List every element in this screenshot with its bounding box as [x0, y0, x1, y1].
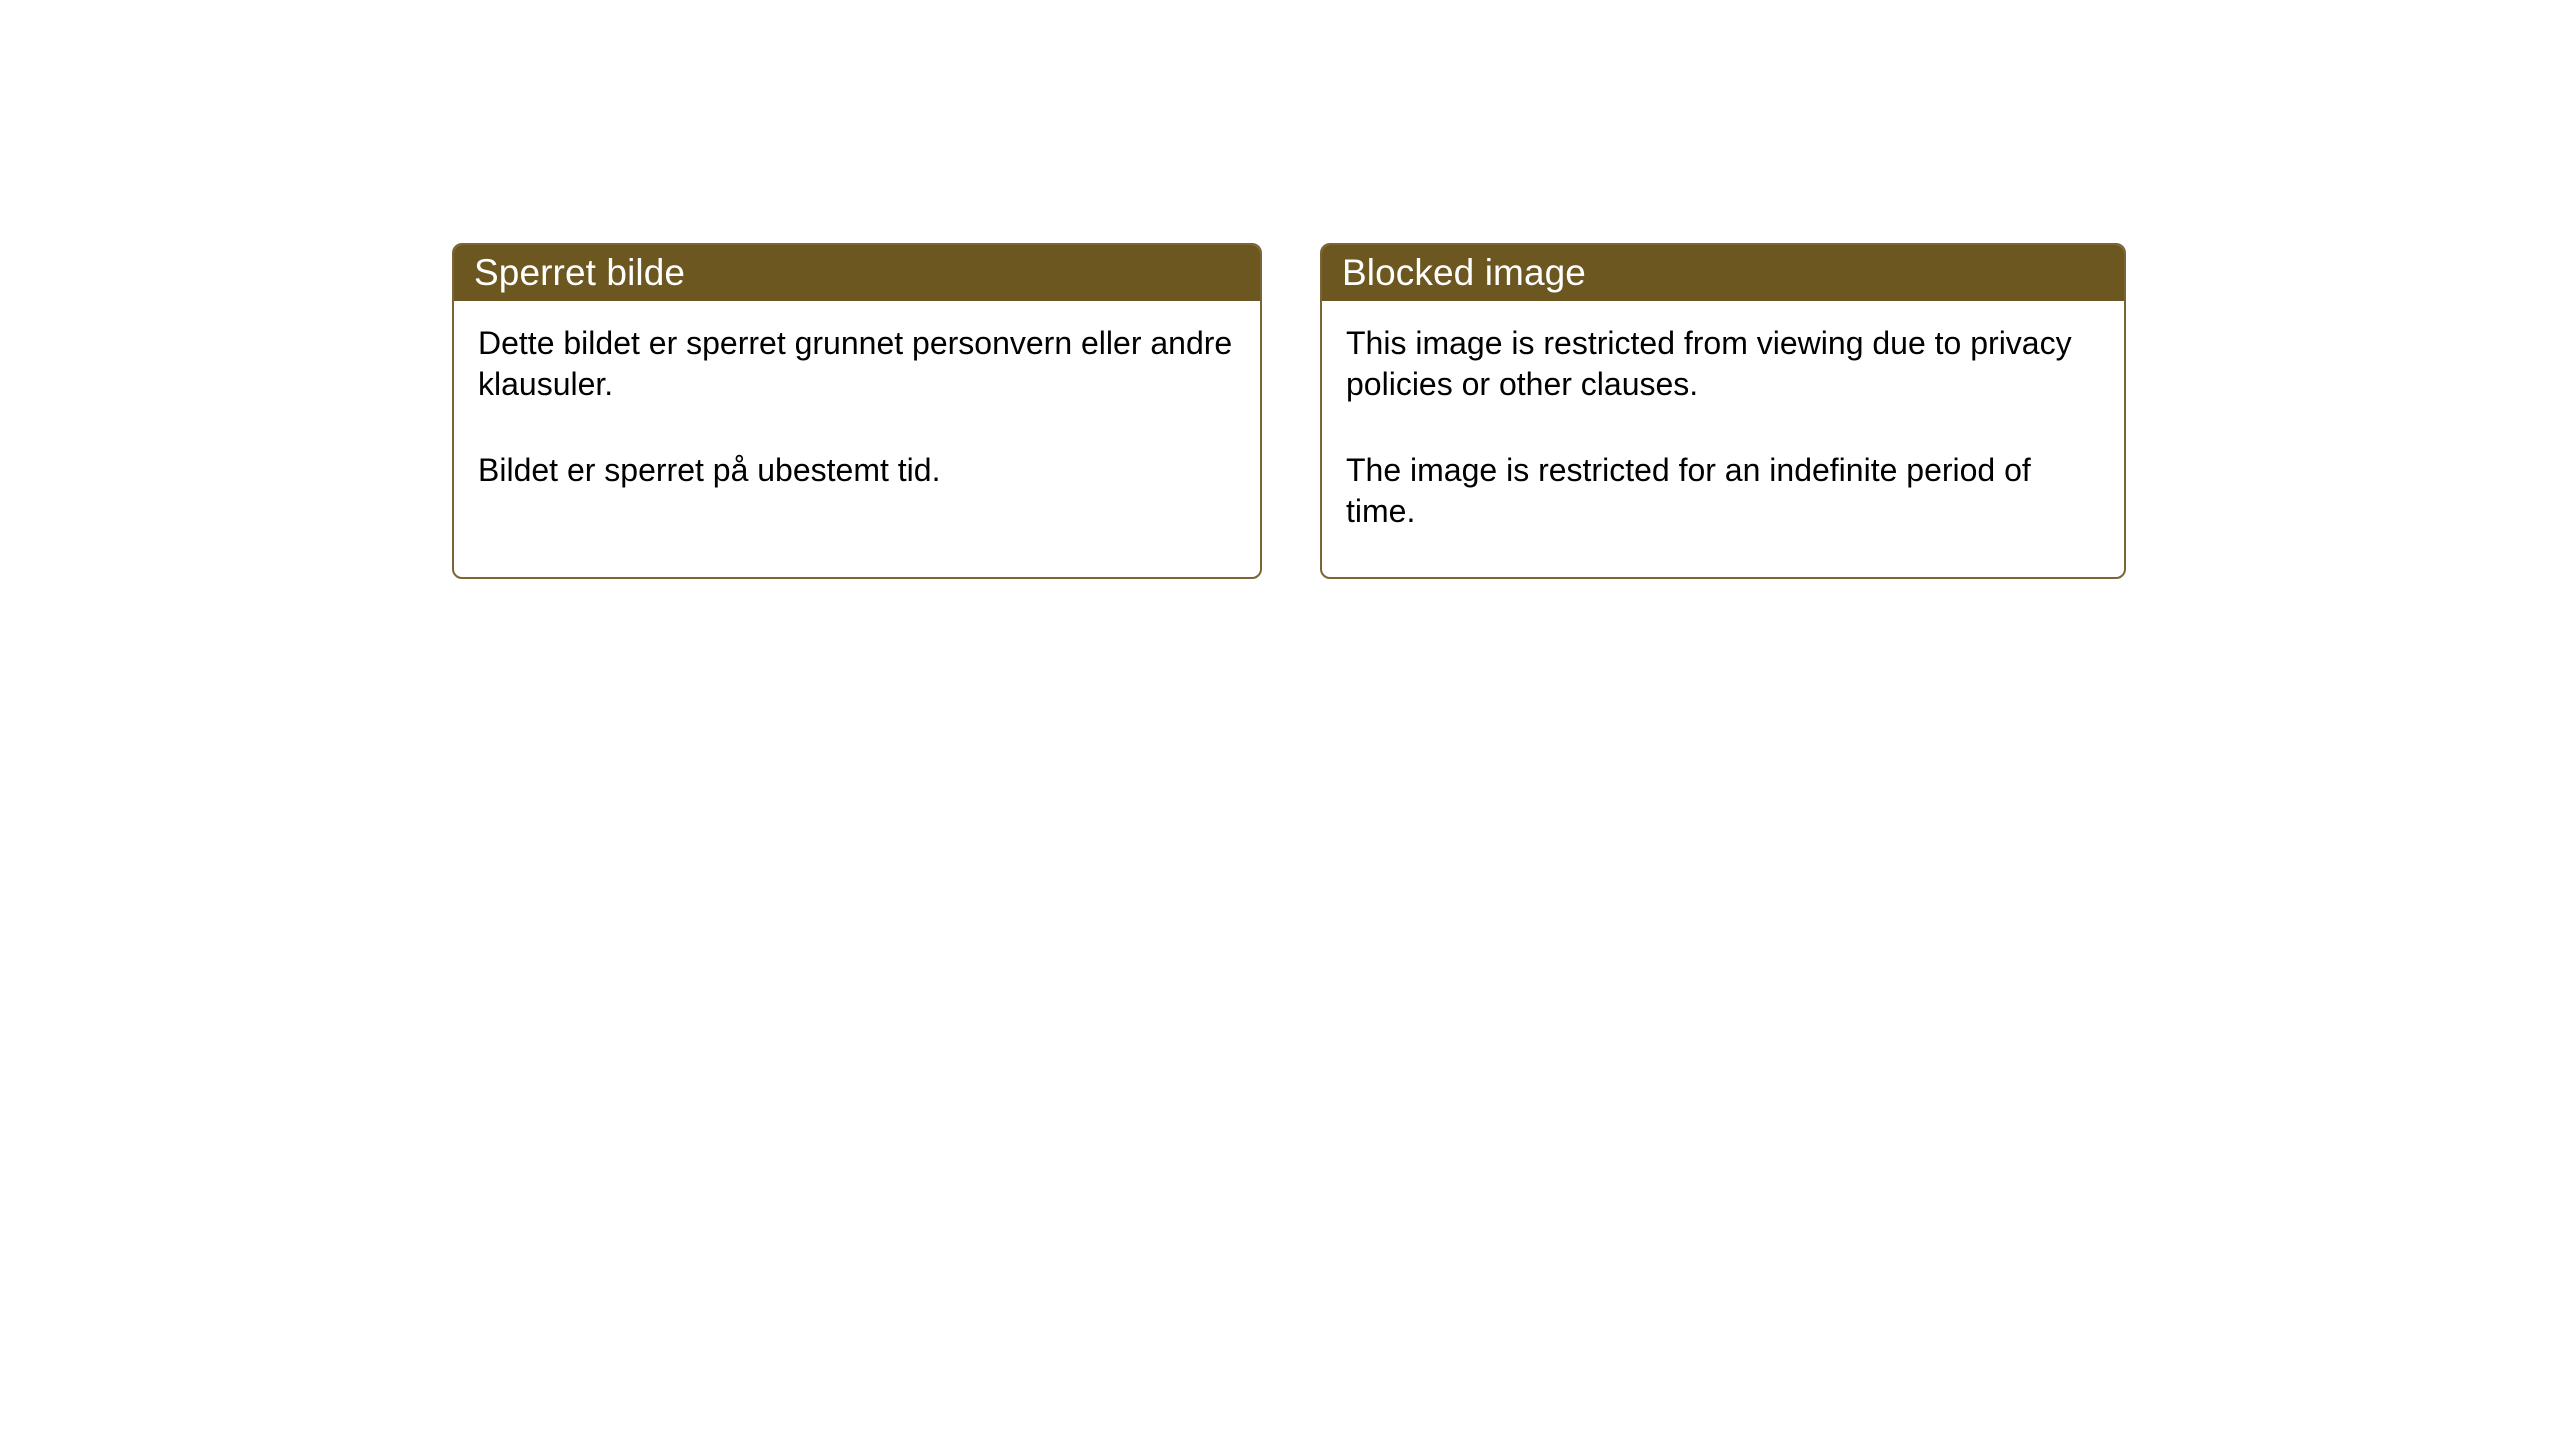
card-paragraph-reason-norwegian: Dette bildet er sperret grunnet personve…: [478, 323, 1238, 405]
blocked-image-card-norwegian: Sperret bilde Dette bildet er sperret gr…: [452, 243, 1262, 579]
card-paragraph-duration-norwegian: Bildet er sperret på ubestemt tid.: [478, 450, 1238, 491]
card-body-english: This image is restricted from viewing du…: [1322, 301, 2124, 550]
card-title-english: Blocked image: [1342, 254, 1586, 291]
card-header-english: Blocked image: [1320, 243, 2126, 301]
blocked-image-card-english: Blocked image This image is restricted f…: [1320, 243, 2126, 579]
card-body-norwegian: Dette bildet er sperret grunnet personve…: [454, 301, 1260, 509]
card-paragraph-duration-english: The image is restricted for an indefinit…: [1346, 450, 2102, 532]
card-paragraph-reason-english: This image is restricted from viewing du…: [1346, 323, 2102, 405]
card-title-norwegian: Sperret bilde: [474, 254, 685, 291]
card-header-norwegian: Sperret bilde: [452, 243, 1262, 301]
